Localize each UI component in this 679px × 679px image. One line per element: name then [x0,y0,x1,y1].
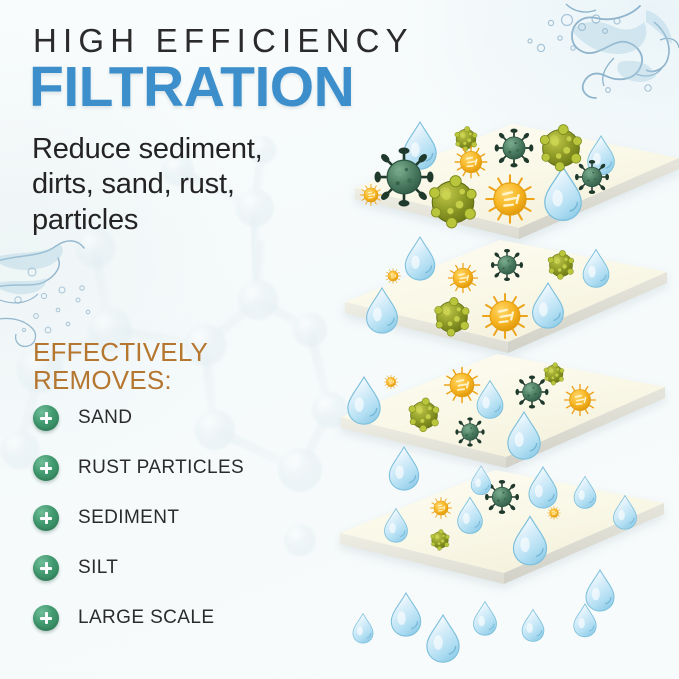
water-splash-fill-top-right [572,10,672,82]
plus-badge-icon [33,455,59,481]
layer-2-particles [367,237,609,338]
layer-3-particles [348,363,596,460]
list-item-label: LARGE SCALE [78,607,214,629]
list-item: SAND [33,405,323,431]
filter-layer-2 [345,237,667,353]
plus-badge-icon [33,555,59,581]
water-splash-fill-left [0,244,63,294]
filter-layer-4 [340,470,664,584]
plus-badge-icon [33,605,59,631]
filter-layer-1 [355,122,679,239]
list-item-label: RUST PARTICLES [78,457,244,479]
list-item-label: SILT [78,557,118,579]
layer-4-particles [385,476,637,564]
plus-badge-icon [33,405,59,431]
list-item: SEDIMENT [33,505,323,531]
list-item: RUST PARTICLES [33,455,323,481]
list-item-label: SEDIMENT [78,507,179,529]
removes-kicker: EFFECTIVELY REMOVES: [33,338,208,394]
water-splash-graphic-top-right [566,4,679,98]
removes-list: SAND RUST PARTICLES SEDIMENT SILT LARGE … [33,405,323,655]
plus-badge-icon [33,505,59,531]
headline-line-2: FILTRATION [29,58,354,118]
headline-line-1: HIGH EFFICIENCY [33,24,414,57]
list-item: LARGE SCALE [33,605,323,631]
water-splash-graphic-left [0,241,84,346]
bubble-cluster-top-right [528,15,651,93]
list-item-label: SAND [78,407,132,429]
subheadline: Reduce sediment, dirts, sand, rust, part… [32,132,332,238]
layer-1-particles [361,122,615,228]
list-item: SILT [33,555,323,581]
falling-droplets [353,139,614,662]
filter-layer-3 [341,354,665,468]
bubble-cluster-left [15,268,90,333]
poster-canvas: HIGH EFFICIENCY FILTRATION Reduce sedime… [0,0,679,679]
